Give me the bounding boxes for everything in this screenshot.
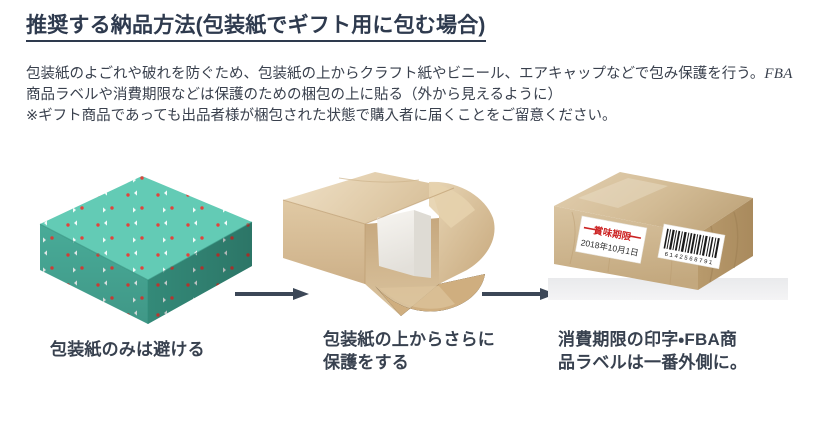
figure-1-caption: 包装紙のみは避ける <box>50 338 205 361</box>
figure-labeled-parcel: 賞味期限 2018年10月1日 <box>548 160 798 330</box>
figure-2-caption-line-1: 包装紙の上からさらに <box>323 328 495 351</box>
figure-gift-wrapped-box: 包装紙のみは避ける <box>22 160 262 330</box>
figure-3-caption-line-2: 品ラベルは一番外側に。 <box>558 351 747 374</box>
page-title-text: 推奨する納品方法(包装紙でギフト用に包む場合) <box>26 14 486 37</box>
gift-wrapped-box-illustration <box>30 172 262 332</box>
figure-kraft-paper-wrapping: 包装紙の上からさらに 保護をする <box>285 160 525 330</box>
body-line-2: 商品ラベルや消費期限などは保護のための梱包の上に貼る（外から見えるように） <box>26 85 796 106</box>
figure-3-artwork: 賞味期限 2018年10月1日 <box>548 160 798 330</box>
figure-2-artwork <box>285 160 525 330</box>
body-line-3: ※ギフト商品であっても出品者様が梱包された状態で購入者に届くことをご留意ください… <box>26 106 796 127</box>
figure-1-artwork <box>22 160 262 330</box>
body-line-1: 包装紙のよごれや破れを防ぐため、包装紙の上からクラフト紙やビニール、エアキャップ… <box>26 64 796 85</box>
page-title: 推奨する納品方法(包装紙でギフト用に包む場合) <box>26 14 486 42</box>
figure-2-caption: 包装紙の上からさらに 保護をする <box>323 328 495 374</box>
figure-3-caption: 消費期限の印字・FBA商 品ラベルは一番外側に。 <box>558 328 747 374</box>
body-line-1-text: 包装紙のよごれや破れを防ぐため、包装紙の上からクラフト紙やビニール、エアキャップ… <box>26 66 764 82</box>
figure-2-caption-line-2: 保護をする <box>323 351 495 374</box>
body-paragraph: 包装紙のよごれや破れを防ぐため、包装紙の上からクラフト紙やビニール、エアキャップ… <box>26 64 796 127</box>
figure-3-caption-line-1: 消費期限の印字・FBA商 <box>558 328 747 351</box>
arrow-shaft <box>482 292 544 296</box>
fba-abbreviation: FBA <box>764 66 792 82</box>
labeled-parcel-illustration: 賞味期限 2018年10月1日 <box>548 164 798 324</box>
figure-row: 包装紙のみは避ける <box>0 160 815 425</box>
kraft-wrapping-illustration <box>279 166 525 331</box>
